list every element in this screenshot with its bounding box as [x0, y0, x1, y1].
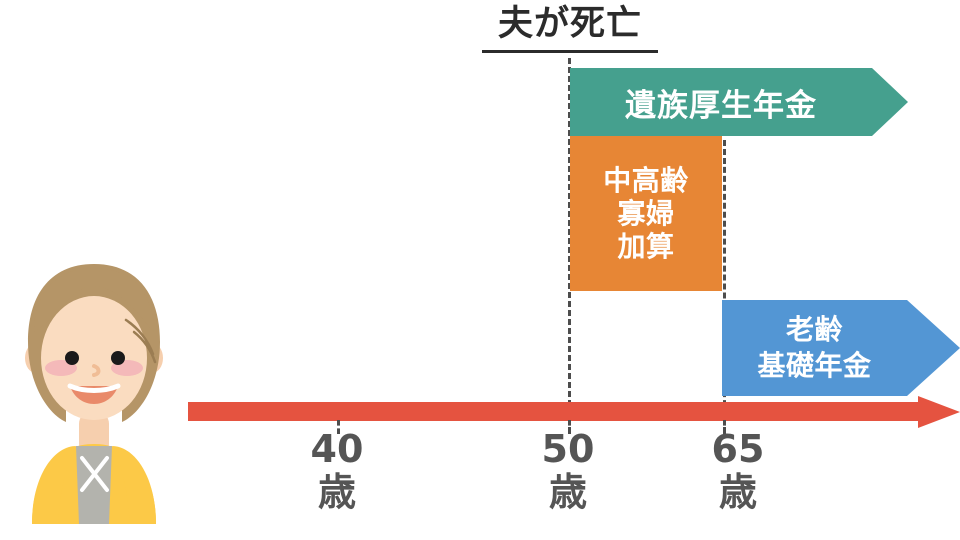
band-widow-line-3: 加算 — [617, 230, 674, 263]
band-basic-line-2: 基礎年金 — [757, 348, 871, 384]
axis-label-65-unit: 歳 — [688, 471, 788, 514]
band-basic-line-1: 老齢 — [786, 312, 843, 348]
axis-label-50-value: 50 — [542, 427, 595, 471]
axis-label-40: 40 歳 — [287, 428, 387, 513]
age-axis-arrowhead-icon — [918, 396, 960, 428]
axis-label-50-unit: 歳 — [518, 471, 618, 514]
band-survivor-employees-pension: 遺族厚生年金 — [570, 68, 908, 136]
band-middle-aged-widow-supplement: 中高齢 寡婦 加算 — [570, 136, 722, 291]
axis-label-50: 50 歳 — [518, 428, 618, 513]
title-underline — [482, 50, 658, 53]
axis-label-40-value: 40 — [311, 427, 364, 471]
age-axis — [188, 396, 960, 428]
band-old-age-basic-pension-label: 老齢 基礎年金 — [722, 300, 907, 396]
band-old-age-basic-pension: 老齢 基礎年金 — [722, 300, 960, 396]
diagram-canvas: 夫が死亡 遺族厚生年金 中高齢 寡婦 加算 老齢 基礎年金 40 歳 50 歳 — [0, 0, 960, 540]
band-survivor-employees-pension-label: 遺族厚生年金 — [570, 68, 872, 136]
elderly-woman-avatar — [14, 262, 174, 524]
age-axis-line — [188, 402, 923, 421]
band-widow-line-1: 中高齢 — [603, 164, 689, 197]
band-widow-line-2: 寡婦 — [617, 197, 674, 230]
axis-label-40-unit: 歳 — [287, 471, 387, 514]
axis-label-65-value: 65 — [712, 427, 765, 471]
page-title: 夫が死亡 — [440, 4, 700, 44]
elderly-woman-illustration — [14, 262, 174, 524]
axis-label-65: 65 歳 — [688, 428, 788, 513]
